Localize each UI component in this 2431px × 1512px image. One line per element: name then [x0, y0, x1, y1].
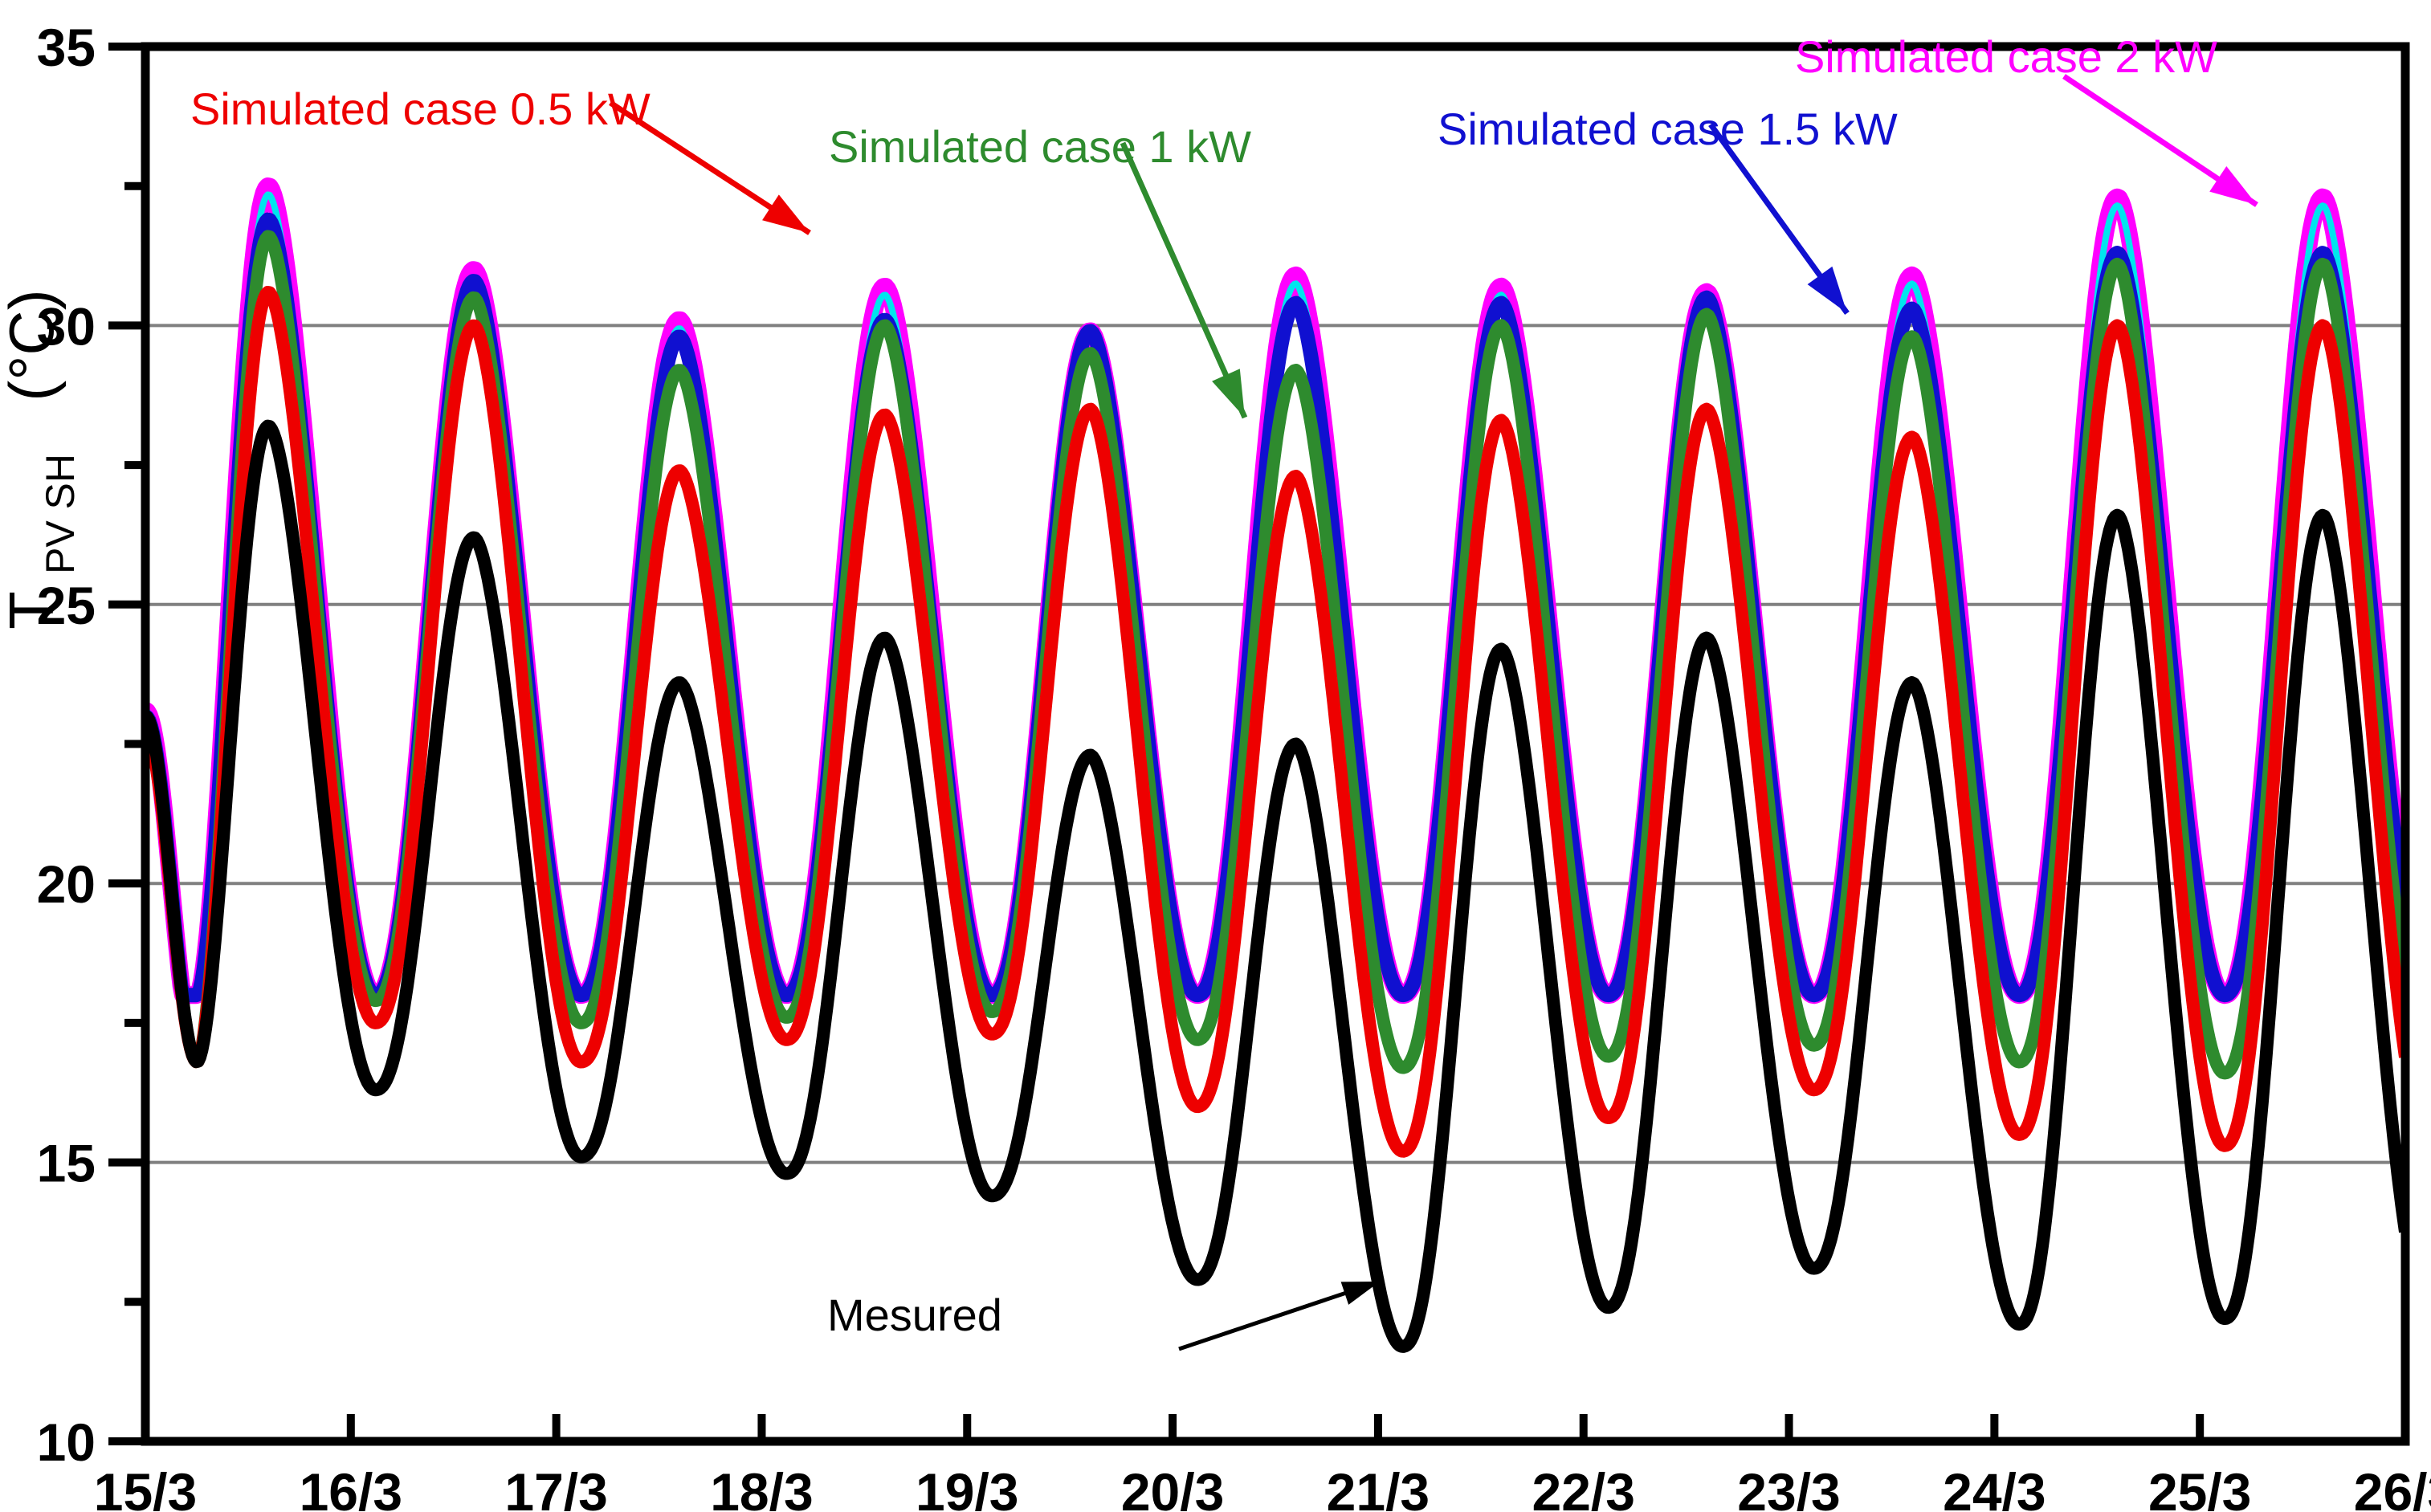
x-tick-label: 15/3	[94, 1462, 197, 1512]
x-tick-label: 22/3	[1532, 1462, 1634, 1512]
x-tick-label: 16/3	[300, 1462, 402, 1512]
x-tick-label: 25/3	[2148, 1462, 2251, 1512]
x-tick-label: 20/3	[1121, 1462, 1224, 1512]
x-tick-label: 18/3	[710, 1462, 813, 1512]
y-axis-title-subscript: PV SH	[38, 454, 83, 574]
annotation-label-ann-2kw: Simulated case 2 kW	[1795, 31, 2217, 82]
x-tick-label: 23/3	[1737, 1462, 1840, 1512]
y-axis-title-unit: (°C)	[0, 289, 67, 401]
x-tick-label: 26/3	[2354, 1462, 2431, 1512]
annotation-label-ann-15kw: Simulated case 1.5 kW	[1438, 104, 1898, 154]
x-tick-label: 24/3	[1943, 1462, 2046, 1512]
x-tick-label: 21/3	[1327, 1462, 1430, 1512]
y-tick-label: 10	[37, 1412, 96, 1472]
chart-root: 101520253035 15/316/317/318/319/320/321/…	[0, 0, 2431, 1512]
y-tick-label: 15	[37, 1134, 96, 1193]
y-axis-title-main: T	[0, 591, 67, 630]
y-tick-label: 35	[37, 18, 96, 77]
x-tick-label: 19/3	[916, 1462, 1018, 1512]
annotation-label-ann-05kw: Simulated case 0.5 kW	[190, 84, 651, 134]
annotation-label-ann-measured: Mesured	[827, 1290, 1002, 1340]
temperature-line-chart: 101520253035 15/316/317/318/319/320/321/…	[0, 0, 2431, 1512]
annotation-label-ann-1kw: Simulated case 1 kW	[829, 121, 1251, 172]
y-tick-label: 20	[37, 854, 96, 914]
x-tick-label: 17/3	[504, 1462, 607, 1512]
